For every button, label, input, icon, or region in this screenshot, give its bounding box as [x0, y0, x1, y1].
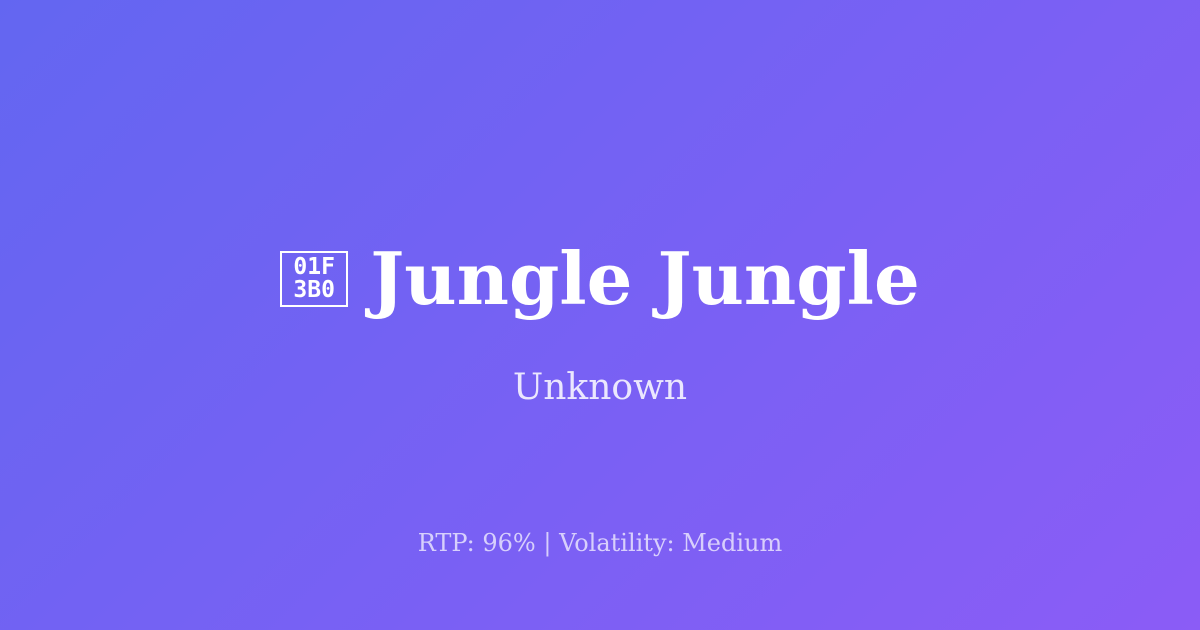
- page-title: Jungle Jungle: [370, 237, 920, 321]
- tofu-codepoint-bottom: 3B0: [293, 279, 335, 302]
- slot-machine-emoji-icon: 01F 3B0: [280, 251, 348, 307]
- title-row: 01F 3B0 Jungle Jungle: [0, 232, 1200, 326]
- tofu-codepoint-top: 01F: [293, 256, 335, 279]
- game-meta-line: RTP: 96% | Volatility: Medium: [0, 527, 1200, 559]
- game-provider-label: Unknown: [0, 366, 1200, 410]
- og-share-card: 01F 3B0 Jungle Jungle Unknown RTP: 96% |…: [0, 0, 1200, 630]
